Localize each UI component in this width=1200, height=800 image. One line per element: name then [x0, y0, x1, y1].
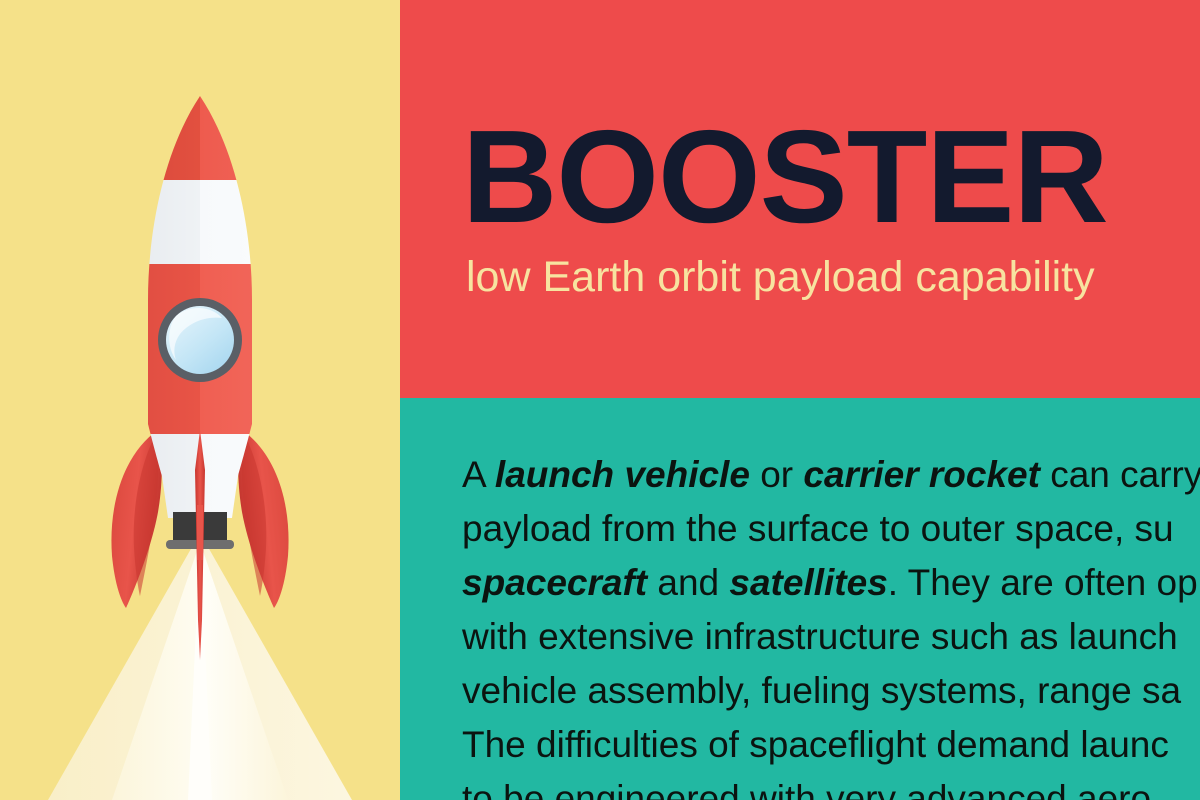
body-copy: A launch vehicle or carrier rocket can c…	[462, 448, 1200, 800]
body-text: A	[462, 454, 495, 495]
body-line: payload from the surface to outer space,…	[462, 502, 1200, 556]
rocket-illustration	[0, 0, 400, 800]
page-subtitle: low Earth orbit payload capability	[466, 255, 1182, 300]
body-line: spacecraft and satellites. They are ofte…	[462, 556, 1200, 610]
body-line: with extensive infrastructure such as la…	[462, 610, 1200, 664]
body-line: to be engineered with very advanced aero	[462, 772, 1200, 800]
body-text: or	[750, 454, 803, 495]
body-text: . They are often op	[888, 562, 1198, 603]
body-text: vehicle assembly, fueling systems, range…	[462, 670, 1181, 711]
body-emphasis: spacecraft	[462, 562, 647, 603]
left-fin	[111, 430, 161, 608]
body-text: can carry	[1040, 454, 1200, 495]
body-emphasis: launch vehicle	[495, 454, 750, 495]
body-line: The difficulties of spaceflight demand l…	[462, 718, 1200, 772]
body-emphasis: carrier rocket	[803, 454, 1040, 495]
poster-canvas: BOOSTER low Earth orbit payload capabili…	[0, 0, 1200, 800]
body-line: vehicle assembly, fueling systems, range…	[462, 664, 1200, 718]
body-text: with extensive infrastructure such as la…	[462, 616, 1178, 657]
body-text: payload from the surface to outer space,…	[462, 508, 1174, 549]
page-title: BOOSTER	[462, 112, 1182, 241]
porthole	[158, 298, 242, 382]
nose-cone	[120, 80, 280, 180]
body-line: A launch vehicle or carrier rocket can c…	[462, 448, 1200, 502]
right-fin	[238, 430, 288, 608]
body-text: to be engineered with very advanced aero	[462, 778, 1151, 800]
body-text: The difficulties of spaceflight demand l…	[462, 724, 1169, 765]
body-text: and	[647, 562, 729, 603]
title-block: BOOSTER low Earth orbit payload capabili…	[462, 112, 1182, 301]
white-band	[120, 180, 280, 264]
body-emphasis: satellites	[729, 562, 887, 603]
